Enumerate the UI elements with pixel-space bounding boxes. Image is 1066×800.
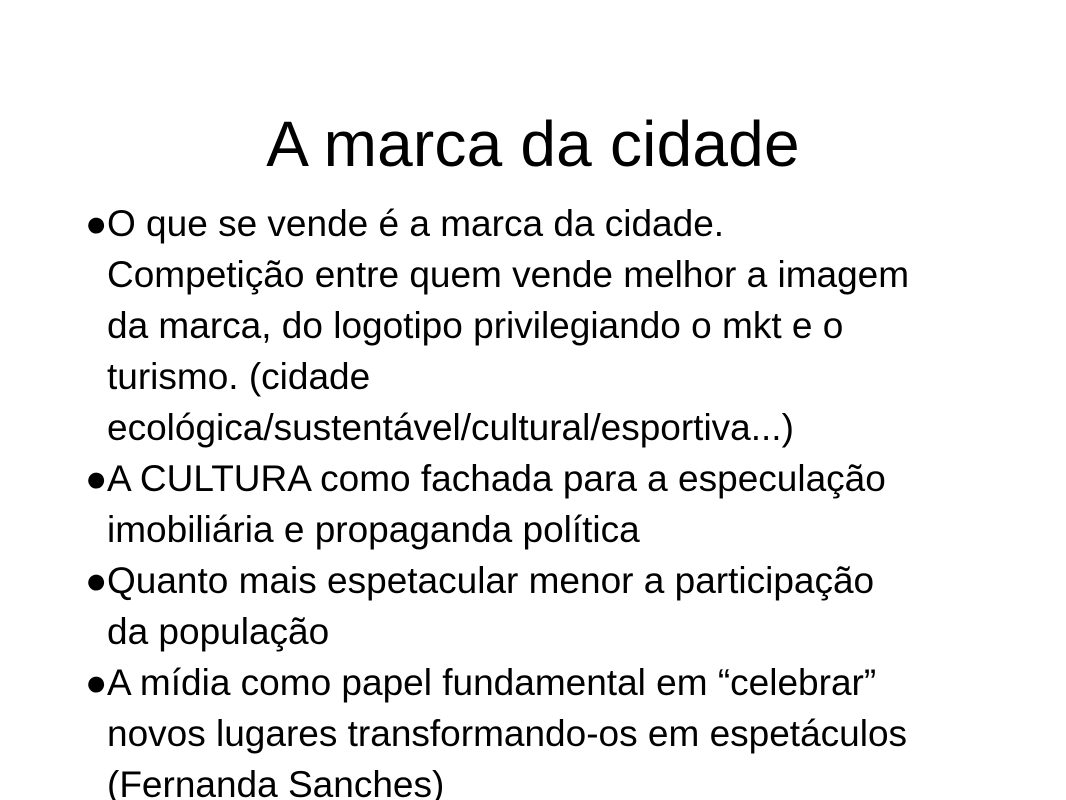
- bullet-text: A mídia como papel fundamental em “celeb…: [107, 657, 1025, 800]
- bullet-point-icon: ●: [85, 555, 107, 606]
- slide-body-bullet-list: ● O que se vende é a marca da cidade. Co…: [85, 198, 1025, 800]
- bullet-point-icon: ●: [85, 657, 107, 708]
- bullet-point-icon: ●: [85, 198, 107, 249]
- bullet-text: A CULTURA como fachada para a especulaçã…: [107, 453, 1025, 555]
- list-item: ● A CULTURA como fachada para a especula…: [85, 453, 1025, 555]
- list-item: ● A mídia como papel fundamental em “cel…: [85, 657, 1025, 800]
- list-item: ● O que se vende é a marca da cidade. Co…: [85, 198, 1025, 453]
- page-title: A marca da cidade: [0, 105, 1066, 183]
- list-item: ● Quanto mais espetacular menor a partic…: [85, 555, 1025, 657]
- bullet-text: O que se vende é a marca da cidade. Comp…: [107, 198, 1025, 453]
- bullet-text: Quanto mais espetacular menor a particip…: [107, 555, 1025, 657]
- presentation-slide: A marca da cidade ● O que se vende é a m…: [0, 0, 1066, 800]
- bullet-point-icon: ●: [85, 453, 107, 504]
